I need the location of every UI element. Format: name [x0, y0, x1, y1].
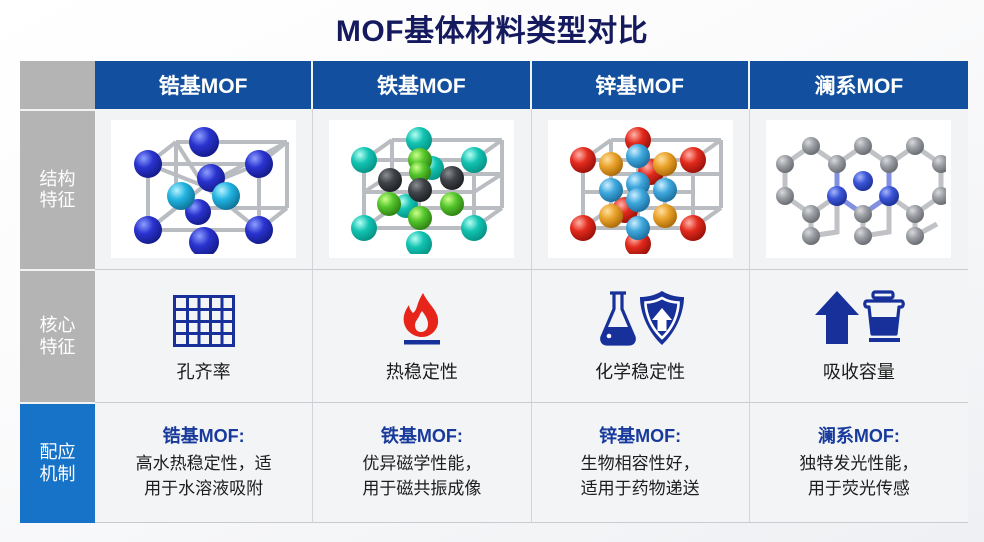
mechanism-line1-2: 优异磁学性能， [362, 452, 481, 477]
mechanism-title-4: 澜系MOF: [799, 423, 918, 449]
feature-label-3: 化学稳定性 [595, 358, 685, 384]
row-label-core-feature: 核心 特征 [20, 269, 95, 402]
cubic-lattice-red-orange-icon [548, 120, 733, 258]
mechanism-cell-1: 锆基MOF: 高水热稳定性，适 用于水溶液吸附 [95, 402, 313, 523]
mechanism-line1-1: 高水热稳定性，适 [136, 452, 272, 477]
mechanism-line1-3: 生物相容性好， [581, 452, 700, 477]
structure-cell-1 [95, 109, 313, 269]
mechanism-cell-3: 锌基MOF: 生物相容性好， 适用于药物递送 [532, 402, 750, 523]
mechanism-title-2: 铁基MOF: [362, 423, 481, 449]
feature-label-2: 热稳定性 [386, 358, 458, 384]
mechanism-cell-2: 铁基MOF: 优异磁学性能， 用于磁共振成像 [313, 402, 531, 523]
row-label-mechanism-line1: 配应 [40, 442, 76, 462]
mechanism-cell-4: 澜系MOF: 独特发光性能， 用于荧光传感 [750, 402, 968, 523]
hexagonal-honeycomb-icon [766, 120, 951, 258]
comparison-table: 锆基MOF 铁基MOF 锌基MOF 澜系MOF 结构 特征 [20, 61, 968, 523]
structure-cell-3 [532, 109, 750, 269]
column-header-1: 锆基MOF [95, 61, 313, 109]
grid-porosity-icon [173, 289, 235, 347]
row-label-core-feature-line1: 核心 [40, 315, 76, 335]
mechanism-title-1: 锆基MOF: [136, 423, 272, 449]
mechanism-line2-2: 用于磁共振成像 [362, 477, 481, 502]
row-label-mechanism: 配应 机制 [20, 402, 95, 523]
mechanism-title-3: 锌基MOF: [581, 423, 700, 449]
structure-cell-4 [750, 109, 968, 269]
cubic-lattice-blue-icon [111, 120, 296, 258]
structure-cell-2 [313, 109, 531, 269]
feature-cell-1: 孔齐率 [95, 269, 313, 402]
mechanism-line2-1: 用于水溶液吸附 [136, 477, 272, 502]
row-label-structure-line2: 特征 [40, 190, 76, 210]
column-header-3: 锌基MOF [532, 61, 750, 109]
page-title: MOF基体材料类型对比 [0, 6, 984, 50]
feature-cell-2: 热稳定性 [313, 269, 531, 402]
column-header-2: 铁基MOF [313, 61, 531, 109]
cubic-lattice-teal-green-icon [329, 120, 514, 258]
feature-cell-3: 化学稳定性 [532, 269, 750, 402]
mechanism-line2-4: 用于荧光传感 [799, 477, 918, 502]
feature-label-1: 孔齐率 [177, 358, 231, 384]
flask-shield-icon [592, 289, 688, 347]
mechanism-line2-3: 适用于药物递送 [581, 477, 700, 502]
row-label-mechanism-line2: 机制 [40, 464, 76, 484]
feature-label-4: 吸收容量 [823, 358, 895, 384]
feature-cell-4: 吸收容量 [750, 269, 968, 402]
arrow-container-icon [811, 289, 907, 347]
row-label-core-feature-line2: 特征 [40, 337, 76, 357]
row-label-structure-line1: 结构 [40, 169, 76, 189]
row-label-structure: 结构 特征 [20, 109, 95, 269]
mechanism-line1-4: 独特发光性能， [799, 452, 918, 477]
table-corner-cell [20, 61, 95, 109]
flame-thermal-icon [396, 289, 448, 347]
column-header-4: 澜系MOF [750, 61, 968, 109]
